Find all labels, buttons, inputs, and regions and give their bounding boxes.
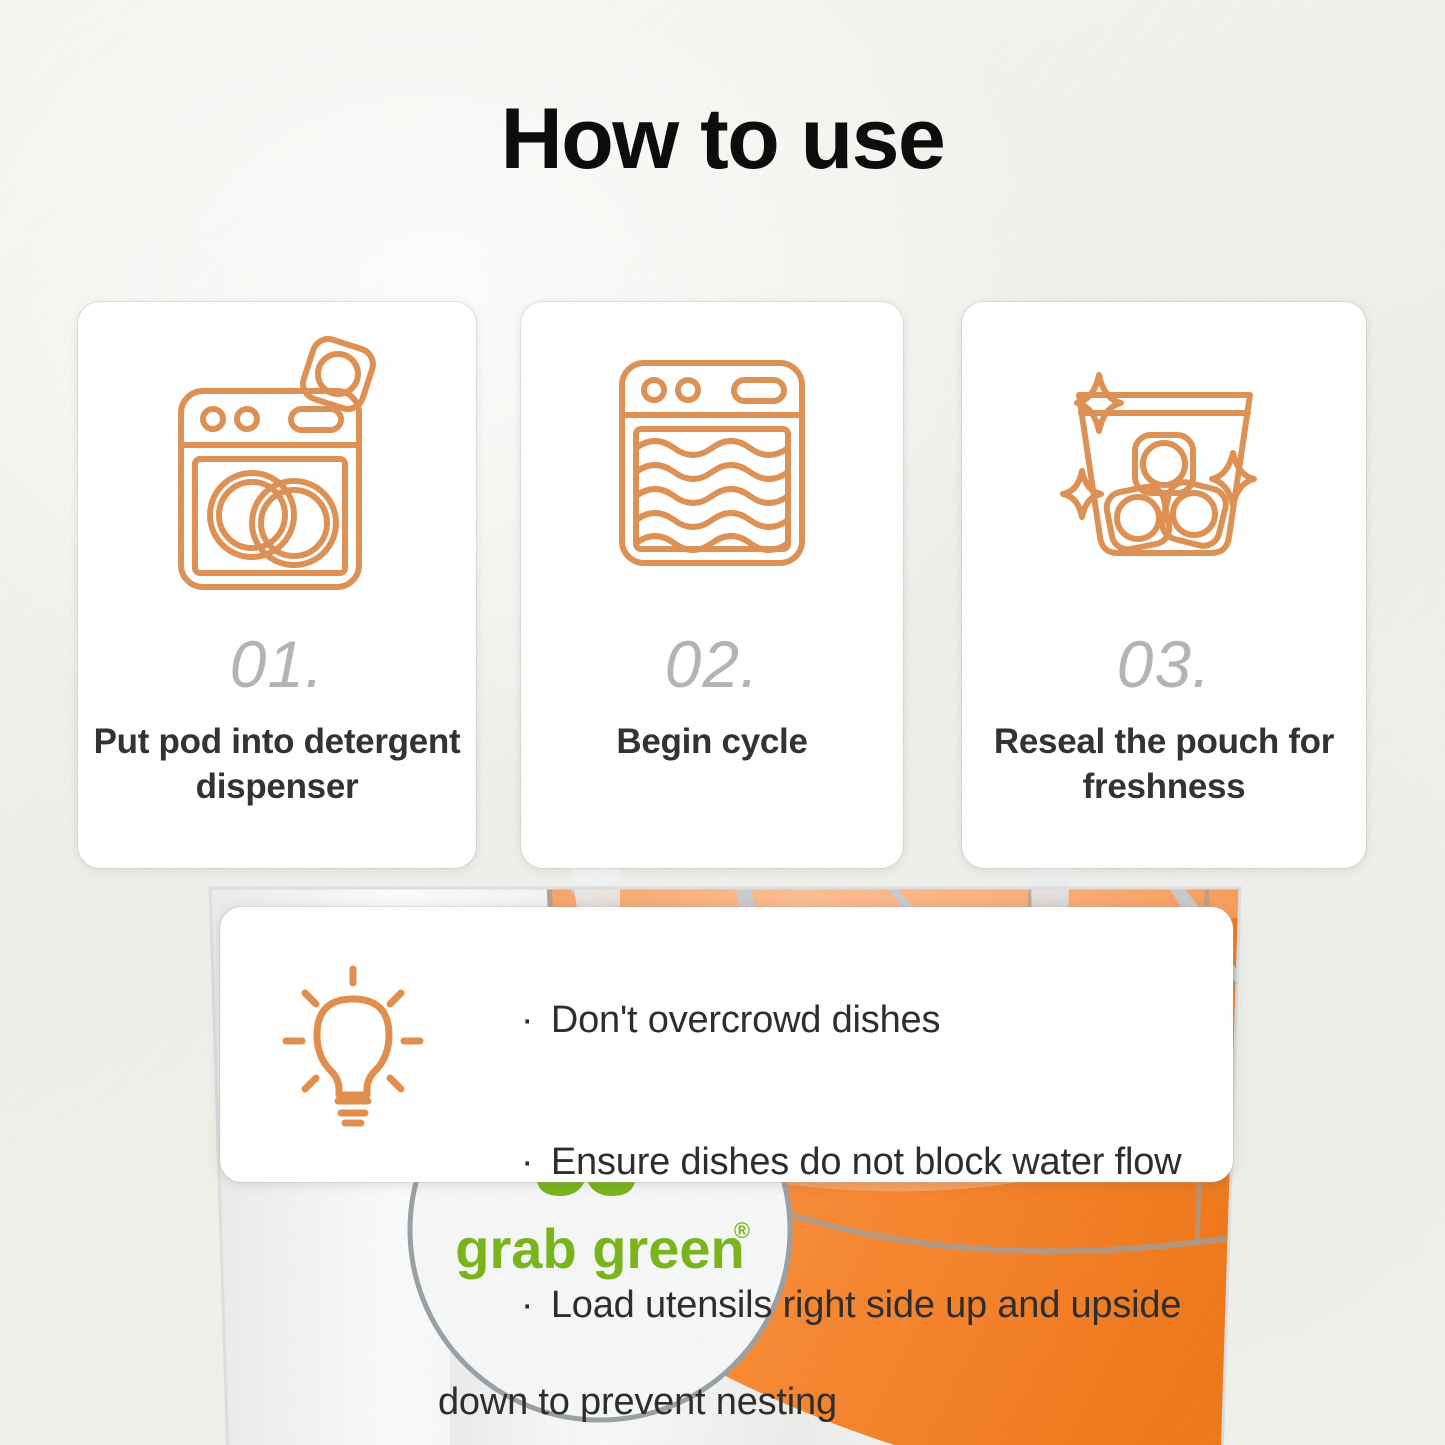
infographic-canvas: grab green ® How to use [0, 0, 1445, 1445]
tip-text: Load utensils right side up and upside [551, 1284, 1181, 1326]
step-card-2: 02. Begin cycle [521, 302, 903, 868]
bullet-glyph: · [521, 1140, 551, 1185]
step-label: Begin cycle [531, 720, 893, 765]
lightbulb-icon [268, 955, 438, 1135]
step-number: 03. [962, 626, 1366, 702]
tip-item-3: ·Load utensils right side up and upside [438, 1238, 1205, 1372]
tip-item-2: ·Ensure dishes do not block water flow [438, 1095, 1205, 1229]
bullet-glyph: · [521, 998, 551, 1043]
page-title: How to use [0, 96, 1445, 182]
tip-item-3-continuation: down to prevent nesting [438, 1380, 1205, 1425]
step-label: Put pod into detergent dispenser [88, 720, 466, 810]
dishwasher-running-icon [521, 328, 903, 608]
resealable-pouch-with-pods-icon [962, 328, 1366, 608]
step-number: 01. [78, 626, 476, 702]
tips-list: ·Don't overcrowd dishes ·Ensure dishes d… [438, 953, 1205, 1433]
tips-card: ·Don't overcrowd dishes ·Ensure dishes d… [220, 907, 1233, 1182]
tip-item-1: ·Don't overcrowd dishes [438, 953, 1205, 1087]
bullet-glyph: · [521, 1283, 551, 1328]
step-number: 02. [521, 626, 903, 702]
tip-text: Ensure dishes do not block water flow [551, 1141, 1182, 1183]
tip-text: Don't overcrowd dishes [551, 999, 940, 1041]
step-label: Reseal the pouch for freshness [972, 720, 1356, 810]
step-card-3: 03. Reseal the pouch for freshness [962, 302, 1366, 868]
step-card-1: 01. Put pod into detergent dispenser [78, 302, 476, 868]
dishwasher-with-pod-icon [78, 328, 476, 608]
